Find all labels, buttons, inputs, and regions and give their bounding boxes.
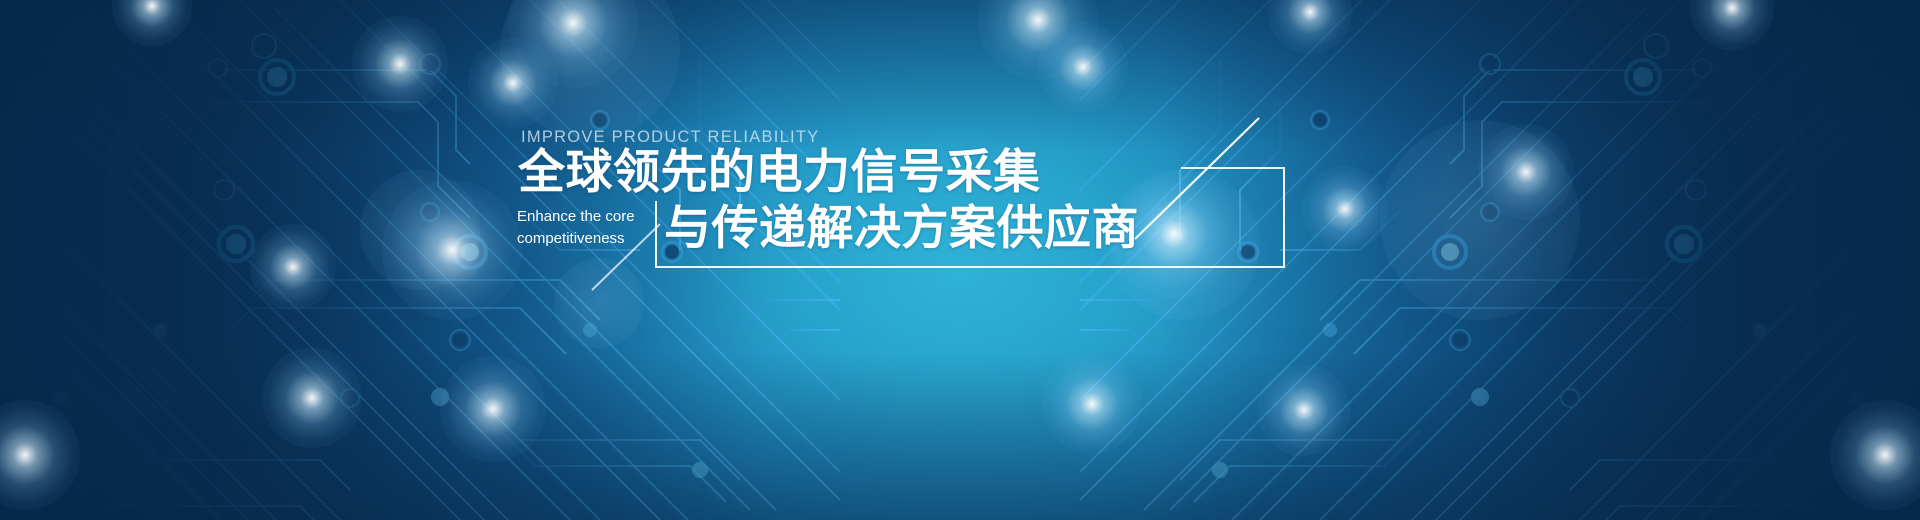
hero-banner: IMPROVE PRODUCT RELIABILITY 全球领先的电力信号采集 … <box>0 0 1920 520</box>
banner-headline-line1: 全球领先的电力信号采集 <box>518 146 1041 198</box>
banner-headline-line2: 与传递解决方案供应商 <box>664 202 1139 254</box>
banner-text-block: IMPROVE PRODUCT RELIABILITY 全球领先的电力信号采集 … <box>0 0 1920 520</box>
banner-subtext: Enhance the core competitiveness <box>517 206 657 250</box>
